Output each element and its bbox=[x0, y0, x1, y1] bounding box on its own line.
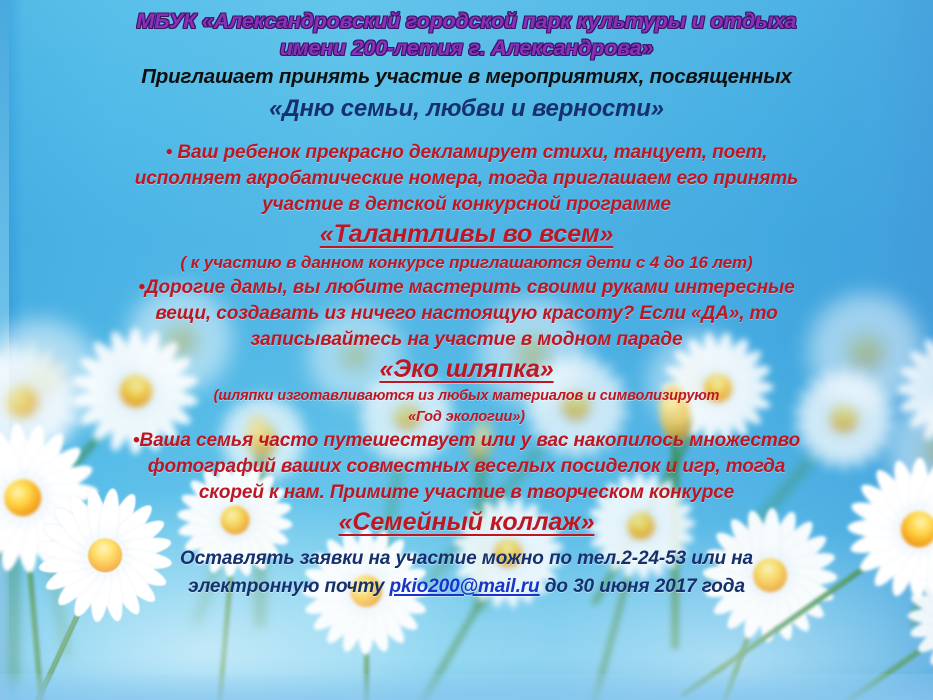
section-1-body-line-3: участие в детской конкурсной программе bbox=[10, 192, 923, 218]
org-title-line-1: МБУК «Александровский городской парк кул… bbox=[10, 8, 923, 35]
section-2-heading: «Эко шляпка» bbox=[10, 353, 923, 386]
section-2-body-line-2: вещи, создавать из ничего настоящую крас… bbox=[10, 301, 923, 327]
poster-content: МБУК «Александровский городской парк кул… bbox=[0, 0, 933, 700]
org-title-line-2: имени 200-летия г. Александрова» bbox=[10, 35, 923, 62]
section-2-note-line-1: (шляпки изготавливаются из любых материа… bbox=[10, 386, 923, 407]
section-3-body-line-3: скорей к нам. Примите участие в творческ… bbox=[10, 480, 923, 506]
invitation-line-2: «Дню семьи, любви и верности» bbox=[10, 92, 923, 126]
invitation-line-1: Приглашает принять участие в мероприятия… bbox=[10, 62, 923, 92]
email-link[interactable]: pkio200@mail.ru bbox=[389, 576, 539, 597]
section-3-body-line-2: фотографий ваших совместных веселых поси… bbox=[10, 454, 923, 480]
section-1-body-line-1: • Ваш ребенок прекрасно декламирует стих… bbox=[10, 140, 923, 166]
footer-line-2: электронную почту pkio200@mail.ru до 30 … bbox=[10, 573, 923, 601]
section-1-note-line-1: ( к участию в данном конкурсе приглашают… bbox=[10, 251, 923, 275]
section-1-heading: «Талантливы во всем» bbox=[10, 218, 923, 251]
section-1-body-line-2: исполняет акробатические номера, тогда п… bbox=[10, 166, 923, 192]
section-2-note-line-2: «Год экологии») bbox=[10, 407, 923, 428]
poster-canvas: МБУК «Александровский городской парк кул… bbox=[0, 0, 933, 700]
section-3-body-line-1: •Ваша семья часто путешествует или у вас… bbox=[10, 428, 923, 454]
footer-line-2-prefix: электронную почту bbox=[188, 576, 389, 597]
section-3-heading: «Семейный коллаж» bbox=[10, 506, 923, 539]
section-2-body-line-1: •Дорогие дамы, вы любите мастерить своим… bbox=[10, 275, 923, 301]
section-2-body-line-3: записывайтесь на участие в модном параде bbox=[10, 327, 923, 353]
footer-line-1: Оставлять заявки на участие можно по тел… bbox=[10, 545, 923, 573]
footer-line-2-suffix: до 30 июня 2017 года bbox=[540, 576, 745, 597]
